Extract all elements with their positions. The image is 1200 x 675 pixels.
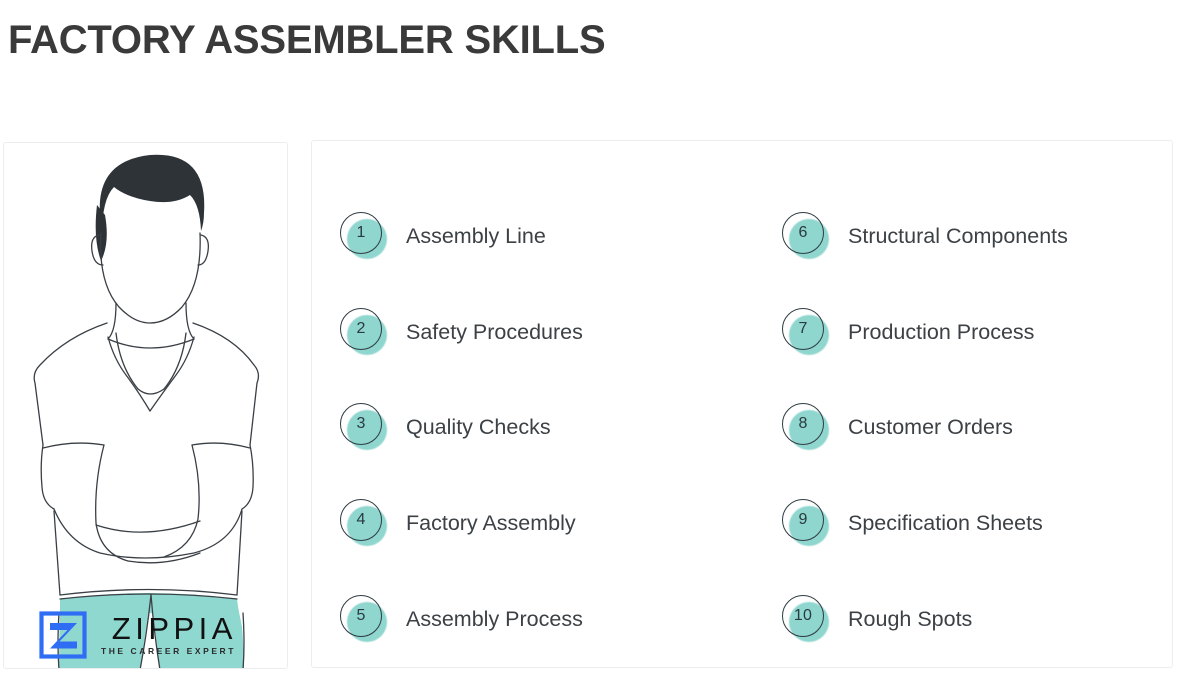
skills-panel: 1Assembly Line2Safety Procedures3Quality…	[311, 140, 1173, 668]
zippia-wordmark: ZIPPIA	[112, 613, 237, 645]
skills-infographic-page: FACTORY ASSEMBLER SKILLS	[0, 0, 1200, 675]
skill-number: 8	[798, 416, 807, 432]
badge-outline-circle: 6	[782, 212, 824, 254]
skill-number-badge: 8	[782, 403, 830, 451]
skill-item: 4Factory Assembly	[340, 475, 742, 571]
skill-label: Assembly Process	[406, 606, 583, 632]
skill-label: Assembly Line	[406, 223, 546, 249]
skill-item: 9Specification Sheets	[782, 475, 1172, 571]
skill-number-badge: 5	[340, 595, 388, 643]
skill-item: 7Production Process	[782, 284, 1172, 380]
zippia-z-mark-icon	[38, 610, 88, 660]
person-with-crossed-arms-illustration	[4, 143, 288, 669]
skills-columns: 1Assembly Line2Safety Procedures3Quality…	[312, 141, 1172, 667]
skill-label: Structural Components	[848, 223, 1068, 249]
skills-column-right: 6Structural Components7Production Proces…	[742, 141, 1172, 667]
badge-outline-circle: 2	[340, 308, 382, 350]
skill-number: 1	[356, 225, 365, 241]
skill-item: 8Customer Orders	[782, 380, 1172, 476]
skill-number: 3	[356, 416, 365, 432]
skill-label: Safety Procedures	[406, 319, 583, 345]
skill-item: 10Rough Spots	[782, 571, 1172, 667]
illustration-panel	[3, 142, 288, 669]
zippia-tagline: THE CAREER EXPERT	[101, 645, 237, 657]
skill-number-badge: 9	[782, 499, 830, 547]
skill-item: 5Assembly Process	[340, 571, 742, 667]
skill-number: 9	[798, 512, 807, 528]
skill-number-badge: 3	[340, 403, 388, 451]
skill-label: Quality Checks	[406, 414, 551, 440]
skill-number-badge: 1	[340, 212, 388, 260]
skills-column-left: 1Assembly Line2Safety Procedures3Quality…	[312, 141, 742, 667]
skill-number: 2	[356, 321, 365, 337]
badge-outline-circle: 1	[340, 212, 382, 254]
skill-number-badge: 10	[782, 595, 830, 643]
skill-item: 3Quality Checks	[340, 380, 742, 476]
skill-number-badge: 4	[340, 499, 388, 547]
skill-number: 7	[798, 321, 807, 337]
skill-number-badge: 2	[340, 308, 388, 356]
skill-number: 4	[356, 512, 365, 528]
skill-item: 1Assembly Line	[340, 188, 742, 284]
page-title: FACTORY ASSEMBLER SKILLS	[8, 16, 606, 64]
skill-number-badge: 6	[782, 212, 830, 260]
skill-item: 6Structural Components	[782, 188, 1172, 284]
skill-item: 2Safety Procedures	[340, 284, 742, 380]
skill-number: 5	[356, 608, 365, 624]
skill-label: Production Process	[848, 319, 1034, 345]
skill-number: 6	[798, 225, 807, 241]
skill-label: Factory Assembly	[406, 510, 576, 536]
skill-label: Customer Orders	[848, 414, 1013, 440]
zippia-wordmark-group: ZIPPIA THE CAREER EXPERT	[101, 613, 237, 658]
badge-outline-circle: 10	[782, 595, 824, 637]
skill-label: Rough Spots	[848, 606, 972, 632]
badge-outline-circle: 4	[340, 499, 382, 541]
zippia-logo[interactable]: ZIPPIA THE CAREER EXPERT	[38, 610, 237, 660]
skill-number-badge: 7	[782, 308, 830, 356]
badge-outline-circle: 7	[782, 308, 824, 350]
badge-outline-circle: 5	[340, 595, 382, 637]
skill-number: 10	[794, 608, 812, 624]
skill-label: Specification Sheets	[848, 510, 1043, 536]
badge-outline-circle: 9	[782, 499, 824, 541]
